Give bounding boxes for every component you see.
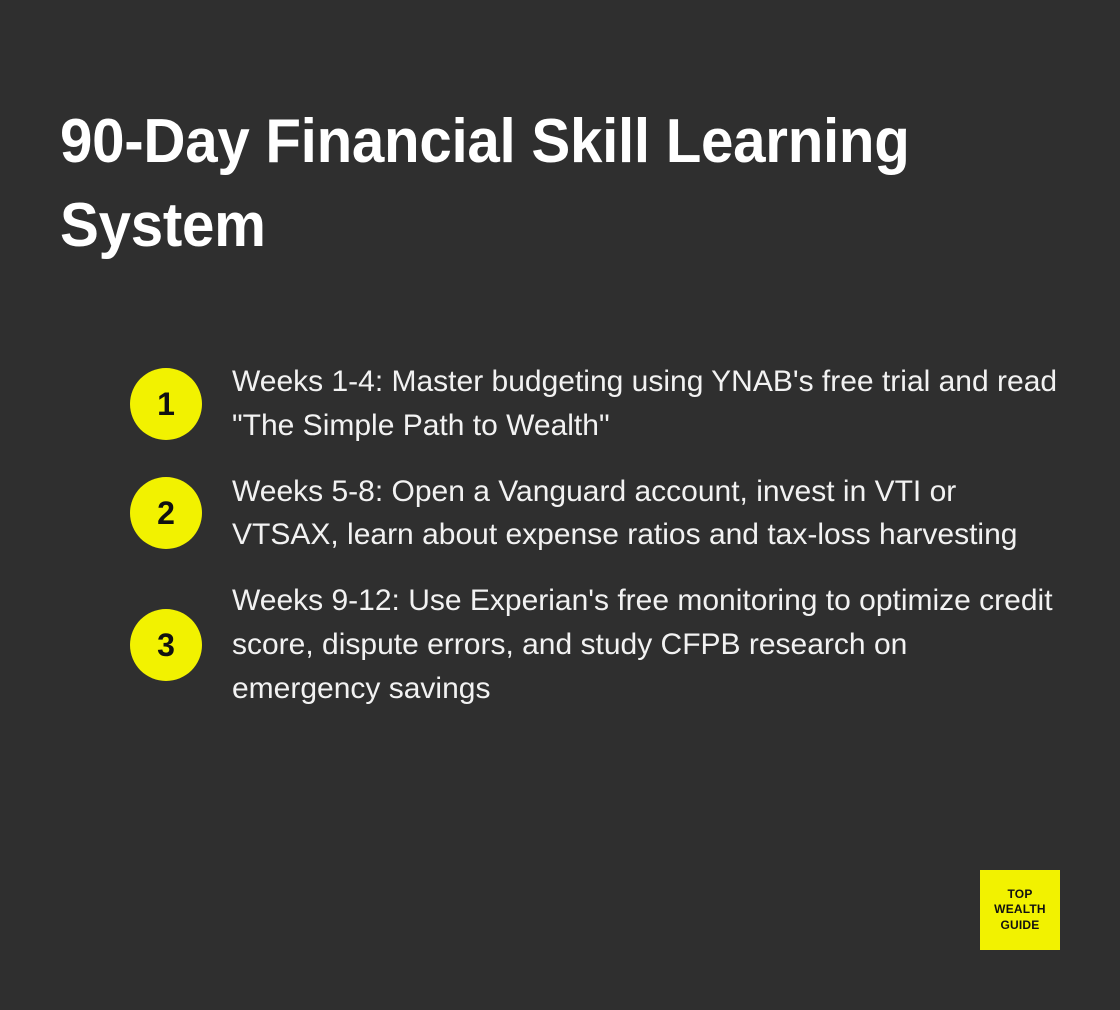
list-item: 3 Weeks 9-12: Use Experian's free monito… [130,579,1060,710]
slide-canvas: 90-Day Financial Skill Learning System 1… [0,0,1120,1010]
steps-list: 1 Weeks 1-4: Master budgeting using YNAB… [130,360,1060,733]
step-number-badge: 1 [130,368,202,440]
step-number-badge: 2 [130,477,202,549]
step-description: Weeks 1-4: Master budgeting using YNAB's… [232,360,1060,448]
list-item: 2 Weeks 5-8: Open a Vanguard account, in… [130,470,1060,558]
page-title: 90-Day Financial Skill Learning System [60,100,991,267]
step-number-badge: 3 [130,609,202,681]
logo-line-1: TOP [1007,887,1032,902]
brand-logo: TOP WEALTH GUIDE [980,870,1060,950]
step-description: Weeks 9-12: Use Experian's free monitori… [232,579,1060,710]
list-item: 1 Weeks 1-4: Master budgeting using YNAB… [130,360,1060,448]
logo-line-3: GUIDE [1000,918,1039,933]
step-description: Weeks 5-8: Open a Vanguard account, inve… [232,470,1060,558]
logo-line-2: WEALTH [994,902,1046,917]
